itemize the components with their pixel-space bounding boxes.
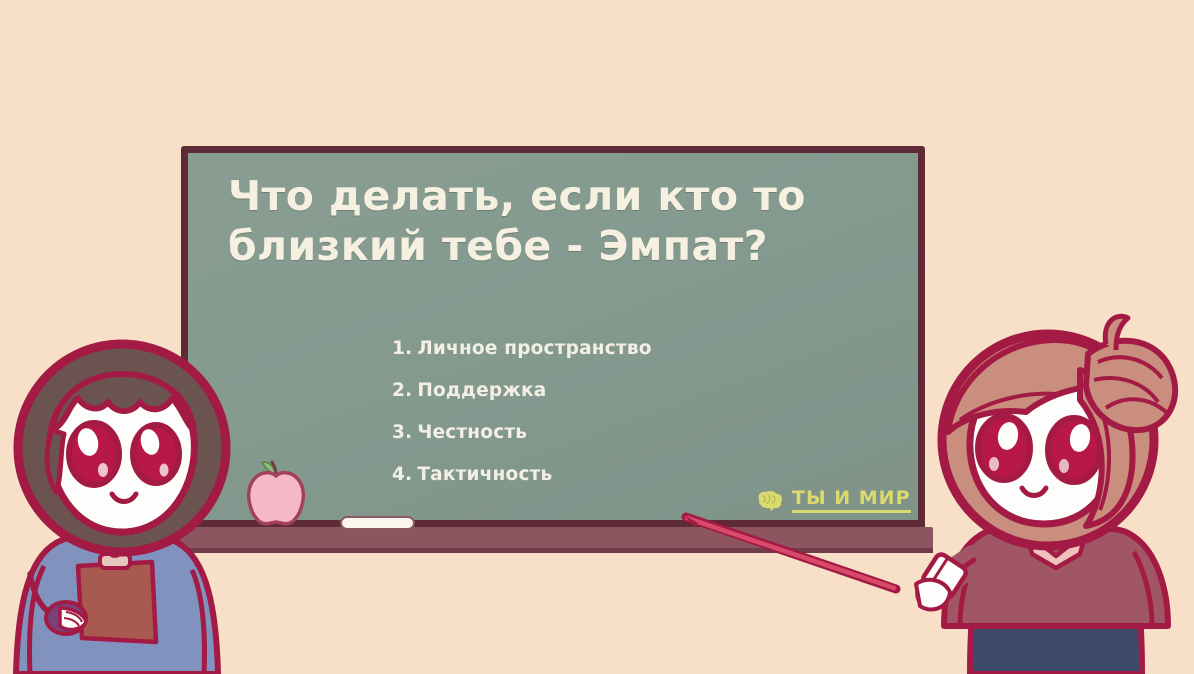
list-item: 2.Поддержка <box>392 380 652 401</box>
page-title-line-2: близкий тебе - Эмпат? <box>228 221 888 271</box>
student-girl <box>4 326 240 674</box>
apple-icon <box>236 452 316 528</box>
list-item-label: Честность <box>417 422 527 443</box>
list-item-number: 2. <box>392 380 412 401</box>
chalk-icon <box>340 516 415 530</box>
page-title-line-1: Что делать, если кто то <box>228 171 888 221</box>
list-item: 3.Честность <box>392 422 652 443</box>
page-title: Что делать, если кто то близкий тебе - Э… <box>228 171 888 271</box>
list-item-number: 1. <box>392 338 412 359</box>
list-item: 1.Личное пространство <box>392 338 652 359</box>
pointer-stick-icon <box>680 505 940 605</box>
list-item-label: Поддержка <box>417 380 546 401</box>
list-item-number: 3. <box>392 422 412 443</box>
list-item-number: 4. <box>392 464 412 485</box>
slide-scene: Что делать, если кто то близкий тебе - Э… <box>0 0 1194 674</box>
teacher-girl <box>930 316 1194 674</box>
list-item-label: Личное пространство <box>417 338 651 359</box>
advice-list: 1.Личное пространство 2.Поддержка 3.Чест… <box>392 338 652 506</box>
list-item: 4.Тактичность <box>392 464 652 485</box>
list-item-label: Тактичность <box>417 464 552 485</box>
